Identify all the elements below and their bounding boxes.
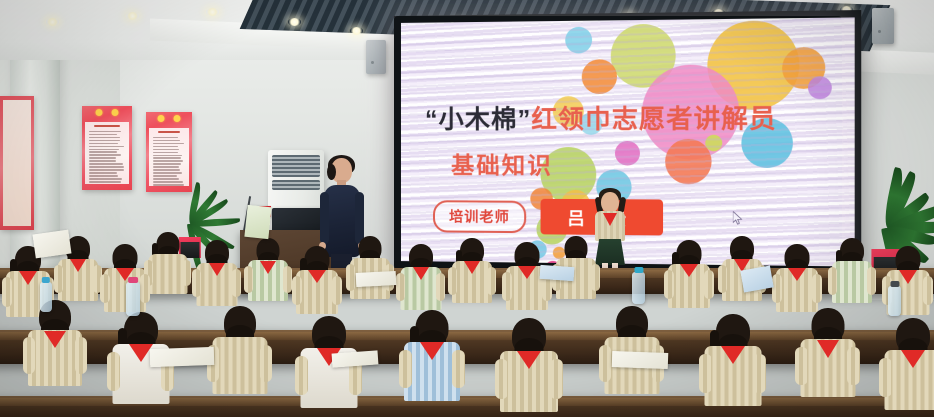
- screen-subtitle: 基础知识: [451, 146, 553, 181]
- seated-student: [452, 238, 492, 313]
- student-red-scarf: [464, 261, 480, 274]
- student-arm: [452, 350, 465, 388]
- student-arm: [23, 337, 35, 374]
- seated-student: [800, 308, 855, 411]
- water-bottle: [40, 282, 52, 312]
- presenter-head: [601, 192, 619, 213]
- student-arm: [107, 352, 120, 391]
- seated-student: [28, 300, 82, 400]
- student-arm: [867, 267, 876, 295]
- ac-vent-upper: [272, 155, 320, 177]
- screen-bubble: [808, 76, 832, 99]
- screen-bubble-decorations: [401, 17, 855, 22]
- student-arm: [436, 273, 445, 301]
- student-red-scarf: [721, 346, 745, 364]
- seated-student: [148, 232, 187, 304]
- student-arm: [295, 356, 308, 395]
- water-bottle: [888, 286, 901, 316]
- student-arm: [664, 270, 674, 299]
- teacher-arm-left: [320, 192, 329, 244]
- student-arm: [495, 359, 508, 399]
- presenter-red-scarf: [603, 213, 617, 226]
- downlight-icon: [350, 27, 363, 35]
- student-arm: [54, 265, 63, 293]
- student-red-scarf: [260, 261, 276, 274]
- teacher-hair-side: [327, 164, 336, 180]
- student-arm: [192, 269, 201, 297]
- student-red-scarf: [209, 263, 225, 276]
- seated-student: [248, 238, 288, 312]
- seated-student: [832, 238, 872, 313]
- wall-poster: [146, 112, 192, 192]
- seated-student: [212, 306, 267, 408]
- student-arm: [346, 264, 355, 291]
- wall-poster: [82, 106, 132, 190]
- student-red-scarf: [901, 350, 925, 368]
- screen-bubble: [705, 135, 722, 152]
- wall-speaker: [366, 40, 386, 74]
- seated-student: [500, 318, 558, 417]
- screen-bubble: [615, 141, 640, 166]
- water-bottle: [632, 272, 645, 304]
- student-arm: [718, 265, 727, 293]
- student-red-scarf: [518, 266, 536, 279]
- screen-bubble: [565, 27, 592, 54]
- paper-handout: [540, 265, 575, 281]
- student-arm: [448, 267, 457, 295]
- student-arm: [795, 347, 808, 385]
- wall-speaker: [872, 8, 894, 44]
- mouse-pointer-icon: [733, 211, 743, 225]
- student-red-scarf: [517, 351, 541, 369]
- student-red-scarf: [44, 331, 66, 348]
- student-arm: [699, 354, 712, 393]
- student-red-scarf: [817, 340, 839, 358]
- downlight-icon: [126, 12, 139, 20]
- wall-poster-partial: [0, 96, 34, 230]
- bottle-cap: [42, 277, 50, 283]
- student-arm: [550, 359, 563, 399]
- student-arm: [828, 267, 837, 295]
- student-arm: [399, 350, 412, 388]
- student-red-scarf: [308, 270, 326, 283]
- paper-handout: [244, 205, 271, 239]
- ac-vent-lower: [272, 180, 320, 190]
- student-arm: [260, 345, 272, 382]
- bottle-cap: [890, 281, 899, 287]
- student-arm: [244, 266, 253, 293]
- student-arm: [487, 267, 496, 295]
- screen-title-rest: 红领巾志愿者讲解员: [531, 105, 776, 134]
- student-arm: [879, 358, 892, 397]
- student-red-scarf: [788, 268, 806, 281]
- student-red-scarf: [680, 264, 698, 277]
- screen-bubble: [582, 59, 617, 94]
- student-arm: [753, 354, 766, 393]
- student-arm: [396, 273, 405, 301]
- classroom-photo-scene: “小木棉”红领巾志愿者讲解员 基础知识 培训老师 吕 云: [0, 0, 934, 417]
- student-arm: [75, 337, 87, 374]
- student-red-scarf: [19, 271, 37, 285]
- student-arm: [140, 274, 150, 303]
- seated-student: [296, 246, 338, 325]
- poster-text-block: [149, 128, 189, 186]
- seated-student: [884, 318, 934, 417]
- seated-student: [668, 240, 710, 318]
- downlight-icon: [206, 8, 219, 16]
- student-arm: [599, 345, 611, 382]
- student-arm: [2, 277, 12, 307]
- poster-text-block: [85, 122, 129, 184]
- student-arm: [847, 347, 860, 385]
- bottle-cap: [128, 277, 138, 283]
- student-red-scarf: [420, 342, 444, 360]
- downlight-icon: [288, 18, 301, 26]
- seated-student: [506, 242, 548, 320]
- trainer-role-badge: 培训老师: [433, 200, 526, 233]
- screen-title: “小木棉”红领巾志愿者讲解员: [425, 98, 777, 136]
- poster-emblem-icon: [158, 115, 181, 122]
- seated-student: [704, 314, 761, 417]
- bottle-cap: [634, 267, 643, 273]
- student-arm: [332, 276, 342, 305]
- paper-handout: [356, 271, 397, 287]
- student-arm: [923, 276, 933, 305]
- paper-handout: [150, 347, 215, 367]
- student-arm: [292, 276, 302, 305]
- student-arm: [232, 269, 241, 297]
- student-arm: [591, 264, 600, 291]
- presenter-skirt: [595, 239, 625, 265]
- student-arm: [502, 272, 512, 301]
- student-arm: [772, 274, 782, 303]
- student-arm: [812, 274, 822, 303]
- student-arm: [100, 274, 110, 303]
- seated-student: [300, 316, 357, 417]
- paper-handout: [332, 350, 379, 367]
- student-arm: [283, 266, 292, 293]
- screen-bubble: [665, 139, 711, 184]
- student-red-scarf: [70, 259, 86, 272]
- poster-emblem-icon: [96, 109, 119, 116]
- seated-student: [404, 310, 460, 415]
- student-arm: [704, 270, 714, 299]
- paper-handout: [33, 230, 72, 259]
- student-red-scarf: [413, 267, 429, 280]
- water-bottle: [126, 282, 140, 316]
- student-arm: [182, 260, 191, 286]
- paper-handout: [612, 351, 669, 369]
- screen-title-quoted: “小木棉”: [425, 105, 531, 133]
- downlight-icon: [46, 18, 59, 26]
- student-red-scarf: [899, 270, 917, 284]
